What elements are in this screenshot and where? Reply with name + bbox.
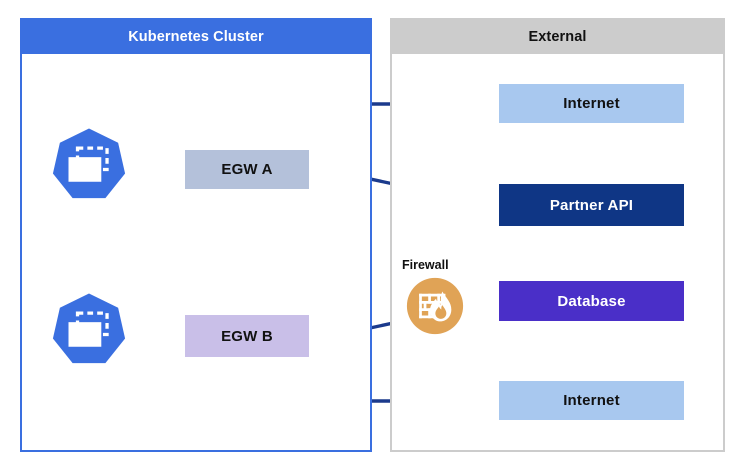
node-label-internet-bottom: Internet: [563, 392, 620, 409]
diagram-canvas: Kubernetes Cluster External EGW A EGW B …: [0, 0, 753, 471]
firewall-brick-flame-icon: [406, 277, 464, 335]
panel-title-kubernetes-cluster: Kubernetes Cluster: [128, 29, 264, 45]
panel-kubernetes-cluster: Kubernetes Cluster: [20, 18, 372, 452]
node-label-partner-api: Partner API: [550, 197, 633, 214]
panel-header-external: External: [392, 20, 723, 54]
node-partner-api[interactable]: Partner API: [499, 184, 684, 226]
node-egw-b[interactable]: EGW B: [185, 315, 309, 357]
node-database[interactable]: Database: [499, 281, 684, 321]
node-label-egw-b: EGW B: [221, 328, 273, 345]
node-label-database: Database: [557, 293, 625, 310]
panel-header-kubernetes-cluster: Kubernetes Cluster: [22, 20, 370, 54]
kubernetes-pods-icon: [48, 291, 130, 373]
node-internet-bottom[interactable]: Internet: [499, 381, 684, 420]
kubernetes-pods-icon: [48, 126, 130, 208]
panel-title-external: External: [528, 29, 586, 45]
node-internet-top[interactable]: Internet: [499, 84, 684, 123]
firewall-label: Firewall: [402, 258, 449, 272]
node-egw-a[interactable]: EGW A: [185, 150, 309, 189]
node-label-internet-top: Internet: [563, 95, 620, 112]
node-label-egw-a: EGW A: [221, 161, 272, 178]
